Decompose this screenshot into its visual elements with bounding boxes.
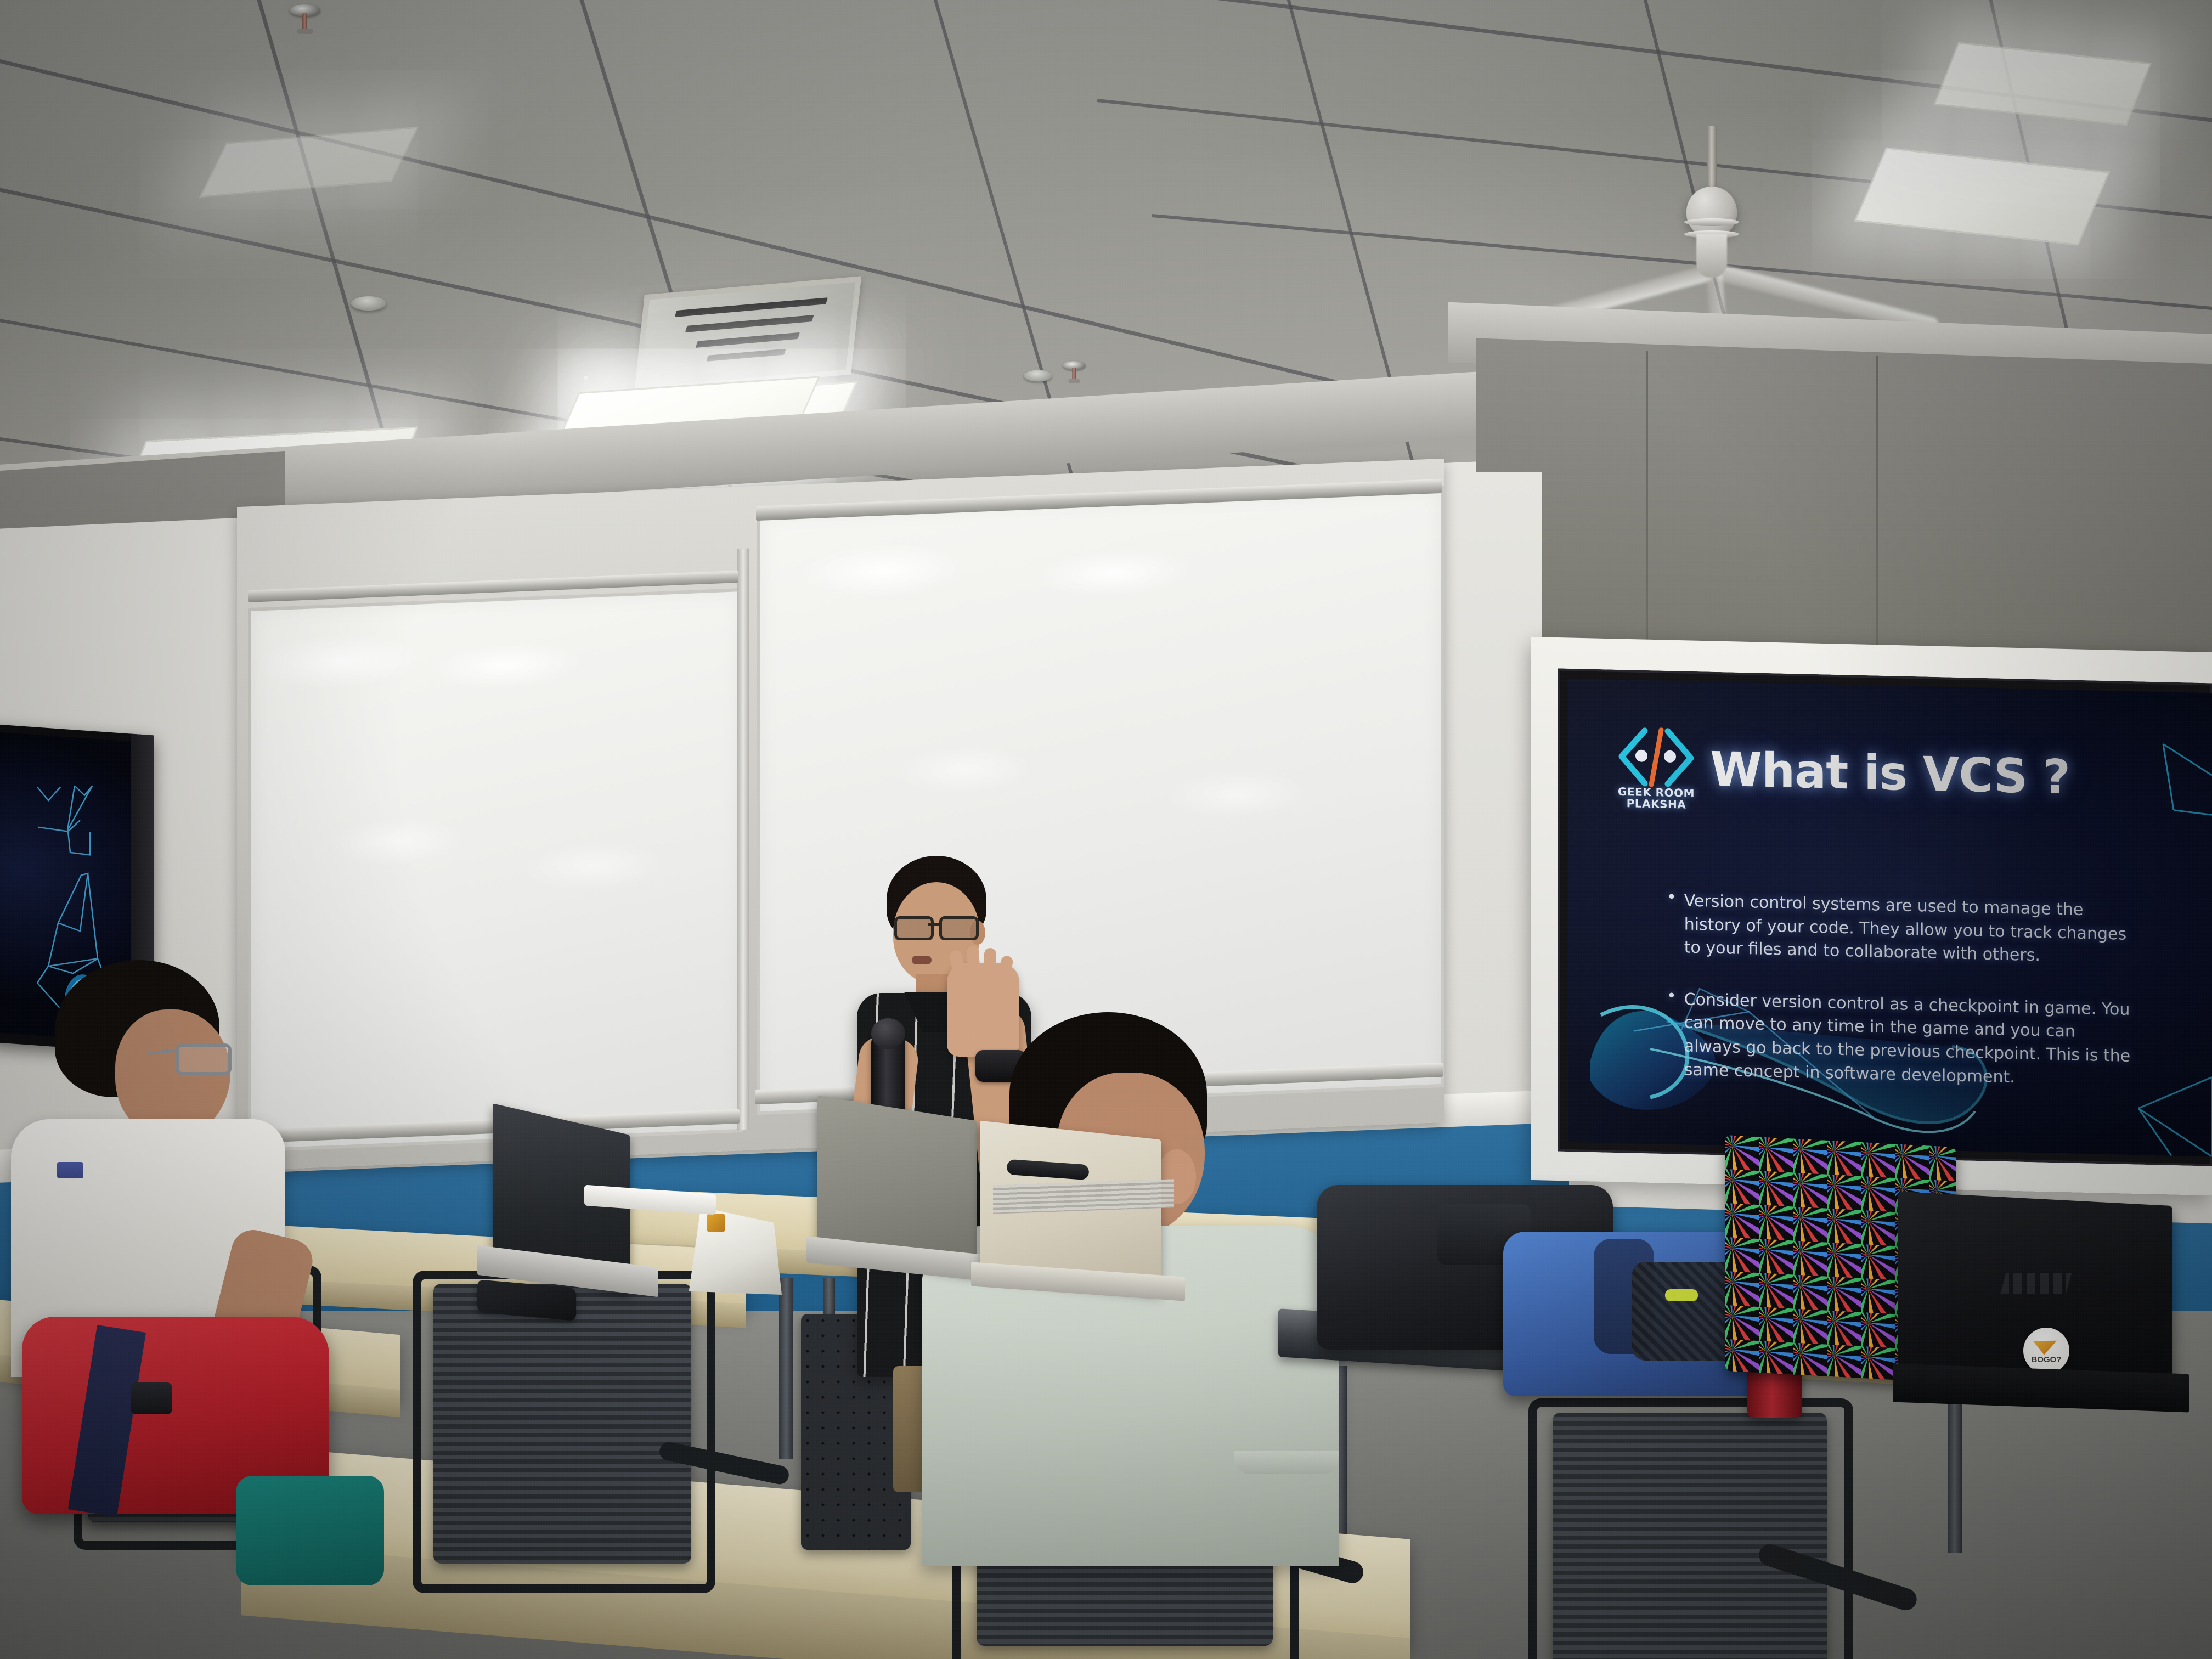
chair-right[interactable]	[1520, 1402, 1882, 1659]
presenter-finger	[967, 945, 981, 992]
snack-wrapper-detail	[707, 1214, 725, 1232]
slide-bullet-text: Version control systems are used to mana…	[1684, 889, 2136, 969]
tuf-logo-icon	[2000, 1273, 2072, 1294]
slide-bullet-text: Consider version control as a checkpoint…	[1684, 988, 2136, 1092]
laptop-sticker-label: BOGO?	[2032, 1355, 2062, 1364]
whiteboard-divider	[737, 549, 749, 1131]
pizza-slice-icon	[2033, 1334, 2060, 1356]
bag-teal[interactable]	[236, 1476, 384, 1585]
eyeglasses-icon	[148, 1043, 234, 1071]
ceiling-panel-light	[1933, 42, 2152, 126]
ceiling-panel-light	[199, 127, 419, 198]
tshirt-logo	[57, 1162, 83, 1178]
presentation-slide[interactable]: GEEK ROOM PLAKSHA What is VCS ? • Versio…	[1568, 679, 2212, 1157]
laptop-asus-tuf[interactable]: BOGO?	[1893, 1199, 2200, 1429]
fire-sprinkler-head	[1063, 361, 1086, 387]
bullet-glyph: •	[1667, 988, 1677, 1005]
tshirt-sleeve-hem	[1234, 1451, 1339, 1474]
backpack-red-buckle	[131, 1383, 172, 1414]
table-leg	[779, 1278, 793, 1459]
bullet-glyph: •	[1667, 889, 1677, 906]
laptop-cream-open[interactable]	[971, 1130, 1201, 1311]
slide-bullet-list: • Version control systems are used to ma…	[1667, 889, 2136, 1092]
smoke-detector	[1024, 370, 1052, 382]
laptop-sticker-bogo: BOGO?	[2023, 1328, 2069, 1374]
wall-panel-seam	[1646, 351, 1648, 680]
list-item: • Consider version control as a checkpoi…	[1667, 988, 2136, 1092]
backpack-tag-green	[1665, 1289, 1698, 1301]
ceiling-panel-light	[1854, 147, 2110, 246]
chair-center-back[interactable]	[400, 1273, 730, 1646]
wall-panel-seam	[1876, 356, 1878, 685]
fire-sprinkler-head	[290, 4, 320, 39]
classroom-scene: S ? ory of yournd to an moveo theare	[0, 0, 2212, 1659]
ceiling-panel-light	[584, 376, 588, 380]
smoke-detector	[351, 296, 386, 311]
air-vent	[634, 276, 861, 393]
eyeglasses-icon	[892, 915, 985, 937]
list-item: • Version control systems are used to ma…	[1667, 889, 2136, 970]
microphone-head	[871, 1018, 905, 1049]
presenter-mouth	[912, 956, 932, 964]
